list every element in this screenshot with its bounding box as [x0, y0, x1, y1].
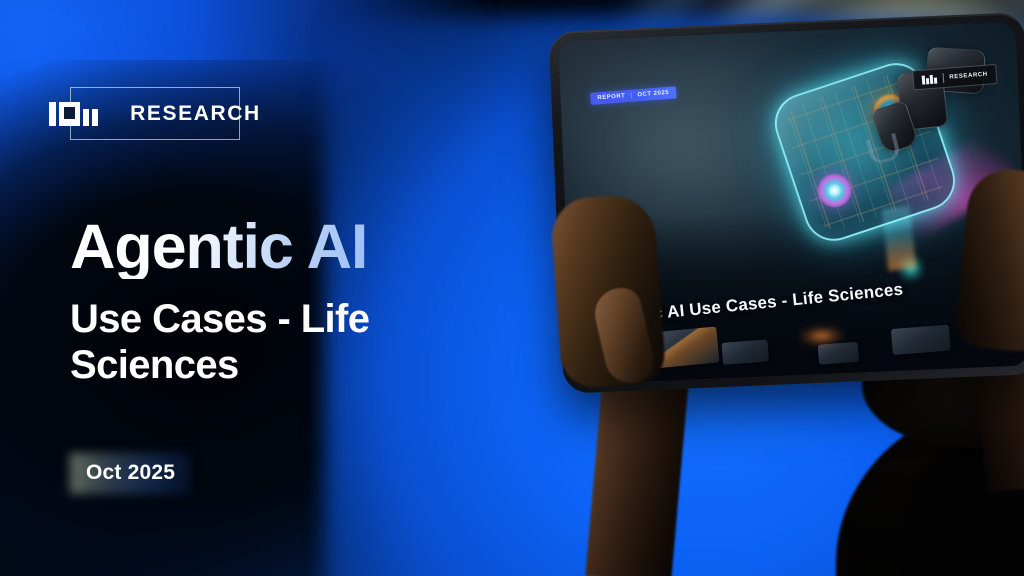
page-subtitle: Use Cases - Life Sciences: [70, 297, 490, 388]
date-badge-label: Oct 2025: [86, 461, 175, 484]
brand-logo-word: RESEARCH: [130, 102, 261, 126]
promo-banner: REPORT | OCT 2025 RESEARCH Agentic AI Us…: [0, 0, 1024, 576]
page-title: Agentic AI: [70, 216, 367, 279]
date-badge: Oct 2025: [70, 453, 191, 494]
aim-logo-icon: [49, 102, 98, 126]
brand-logo-badge: RESEARCH: [70, 87, 240, 140]
